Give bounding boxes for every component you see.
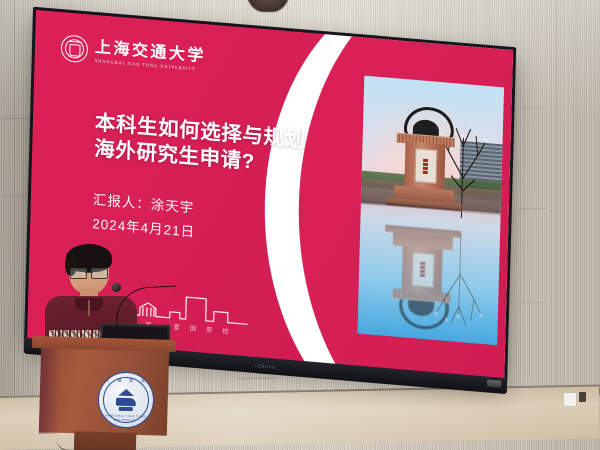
wall-seam [14,0,15,450]
wall-seam [556,0,557,450]
monument-photo [357,76,504,346]
wall-outlet-plate-icon[interactable] [563,392,577,407]
display-badge-icon [487,380,501,388]
podium-shadow [39,348,61,435]
slide-meta: 汇报人：涂天宇 2024年4月21日 [92,188,196,244]
podium-seal-top-text: 上 海 交 大 [99,377,153,385]
podium-cable [56,438,84,450]
wall-seam [518,208,546,209]
wall-seam [516,302,546,303]
monument-tablet [414,148,438,184]
glasses-icon [70,268,108,277]
sjtu-seal-icon [61,34,89,63]
wall-seam [2,118,32,119]
display-brand-mark: Lenovo [255,363,275,370]
tree-reflection [427,231,491,339]
podium: 上 海 交 大 SHANGHAI JIAO TONG UNIVERSITY [34,338,174,450]
podium-seal-bottom-text: SHANGHAI JIAO TONG UNIVERSITY [98,413,152,423]
lecture-hall-scene: 上海交通大学 SHANGHAI JIAO TONG UNIVERSITY 本科生… [0,0,600,450]
emblem-crest [114,389,139,412]
wall-socket-icon[interactable] [579,392,586,402]
microphone-head-icon[interactable] [112,283,121,292]
sweater-zipper [88,300,90,316]
sjtu-emblem-icon: 上 海 交 大 SHANGHAI JIAO TONG UNIVERSITY [97,371,155,429]
wall-seam [520,108,544,109]
yin-shui-si-yuan-monument [400,105,450,207]
